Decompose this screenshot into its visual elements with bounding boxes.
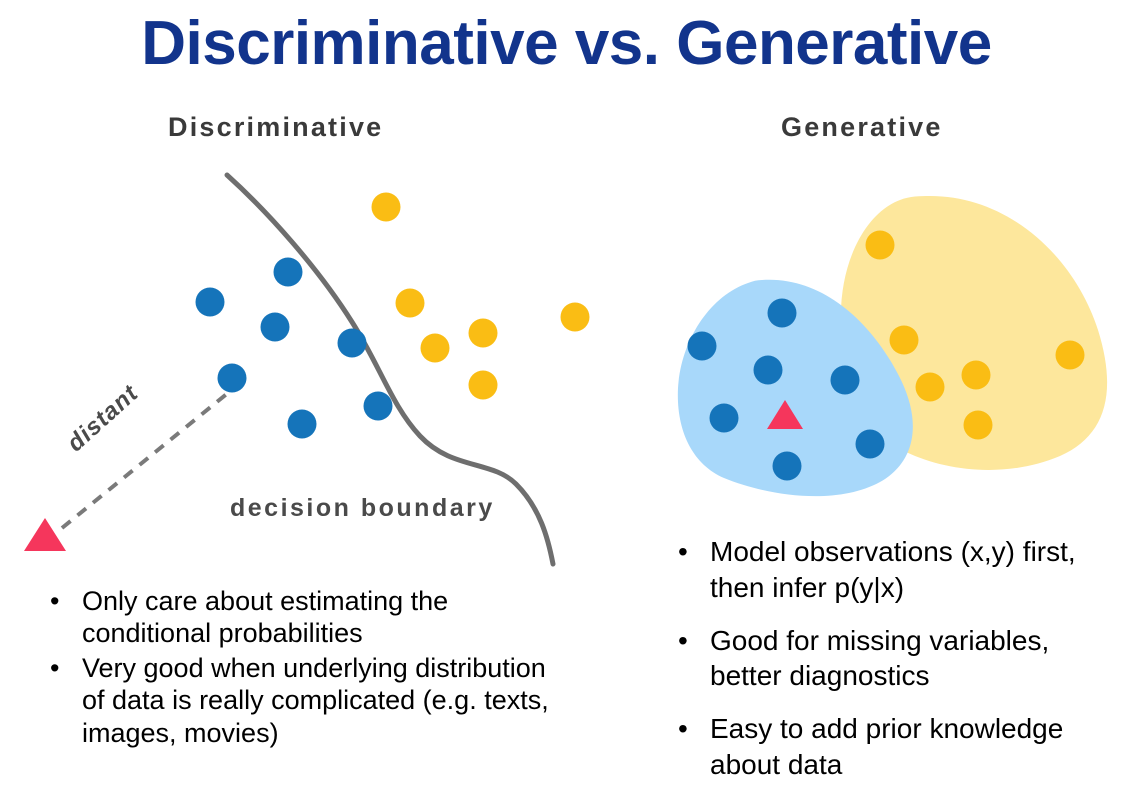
- bullet-marker: •: [38, 585, 82, 617]
- panel-heading-discriminative: Discriminative: [168, 112, 383, 143]
- query-triangle-left: [24, 518, 66, 551]
- data-point-yellow: [1056, 341, 1085, 370]
- data-point-yellow: [916, 373, 945, 402]
- bullet-text: Good for missing variables, better diagn…: [710, 623, 1126, 695]
- data-point-blue: [768, 299, 797, 328]
- decision-boundary-label: decision boundary: [230, 494, 495, 523]
- bullet-marker: •: [666, 711, 710, 747]
- query-triangle-right: [767, 400, 803, 429]
- bullet-text: Easy to add prior knowledge about data: [710, 711, 1126, 783]
- data-point-blue: [688, 332, 717, 361]
- list-item: • Only care about estimating the conditi…: [38, 585, 568, 650]
- generative-bullet-list: • Model observations (x,y) first, then i…: [666, 534, 1126, 800]
- page-title: Discriminative vs. Generative: [0, 8, 1133, 79]
- yellow-density-blob: [841, 196, 1107, 470]
- data-point-yellow: [964, 411, 993, 440]
- data-point-blue: [831, 366, 860, 395]
- data-point-blue: [710, 404, 739, 433]
- data-point-blue: [338, 329, 367, 358]
- blue-density-blob: [678, 280, 913, 496]
- bullet-marker: •: [38, 652, 82, 684]
- data-point-yellow: [866, 231, 895, 260]
- data-point-blue: [288, 410, 317, 439]
- bullet-text: Very good when underlying distribution o…: [82, 652, 568, 749]
- data-point-blue: [364, 392, 393, 421]
- data-point-yellow: [372, 193, 401, 222]
- data-point-yellow: [561, 303, 590, 332]
- data-point-blue: [196, 288, 225, 317]
- discriminative-bullet-list: • Only care about estimating the conditi…: [38, 585, 568, 751]
- list-item: • Very good when underlying distribution…: [38, 652, 568, 749]
- data-point-blue: [261, 313, 290, 342]
- list-item: • Easy to add prior knowledge about data: [666, 711, 1126, 783]
- data-point-yellow: [421, 334, 450, 363]
- data-point-blue: [754, 356, 783, 385]
- distant-label: distant: [62, 380, 144, 458]
- slide: Discriminative vs. Generative Discrimina…: [0, 0, 1133, 798]
- data-point-yellow: [396, 289, 425, 318]
- data-point-blue: [274, 258, 303, 287]
- data-point-blue: [218, 364, 247, 393]
- data-point-yellow: [962, 361, 991, 390]
- data-point-yellow: [890, 326, 919, 355]
- list-item: • Good for missing variables, better dia…: [666, 623, 1126, 695]
- panel-heading-generative: Generative: [781, 112, 943, 143]
- data-point-blue: [856, 430, 885, 459]
- bullet-marker: •: [666, 534, 710, 570]
- bullet-text: Model observations (x,y) first, then inf…: [710, 534, 1126, 606]
- data-point-blue: [773, 452, 802, 481]
- list-item: • Model observations (x,y) first, then i…: [666, 534, 1126, 606]
- data-point-yellow: [469, 371, 498, 400]
- bullet-marker: •: [666, 623, 710, 659]
- distant-dashed-line: [62, 388, 234, 528]
- bullet-text: Only care about estimating the condition…: [82, 585, 568, 650]
- data-point-yellow: [469, 319, 498, 348]
